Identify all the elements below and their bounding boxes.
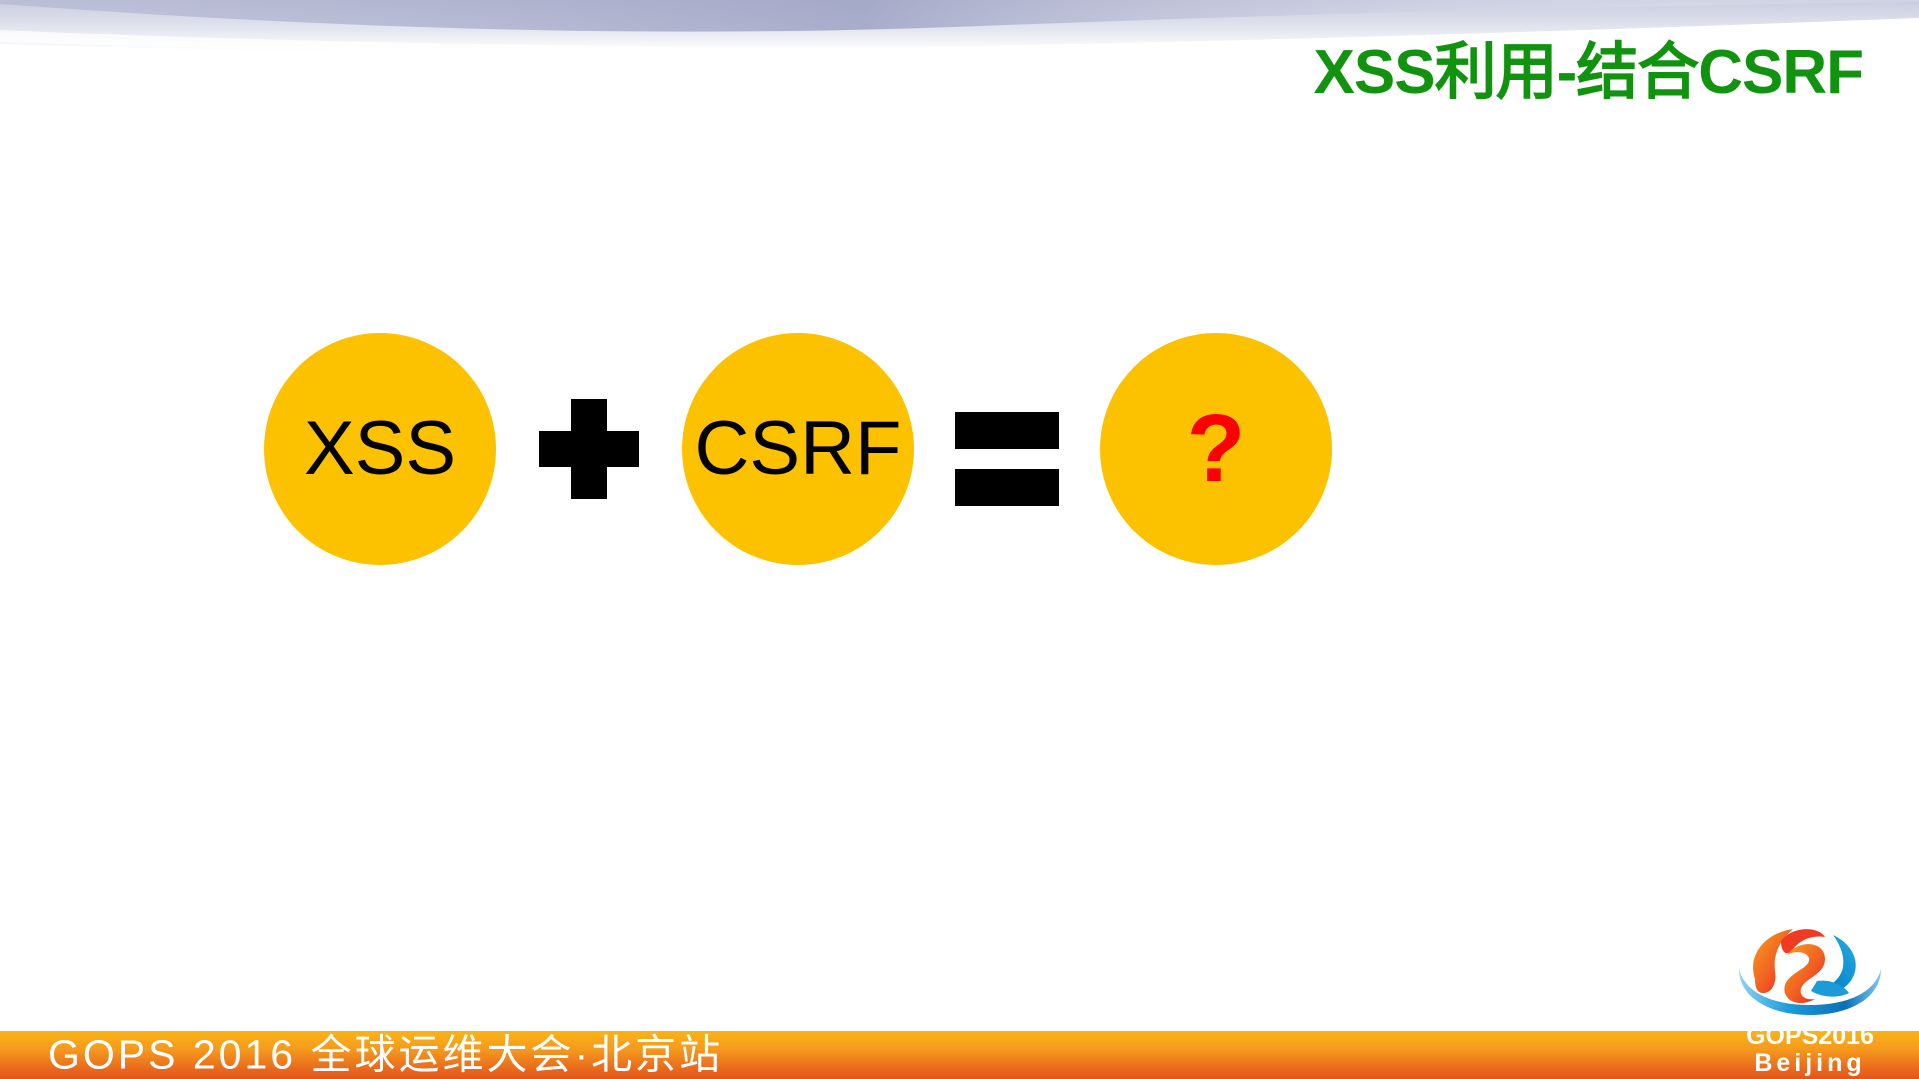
equals-icon [914, 333, 1100, 565]
bubble-result: ? [1100, 333, 1332, 565]
footer-banner-text: GOPS 2016 全球运维大会·北京站 [48, 1035, 723, 1076]
footer-banner: GOPS 2016 全球运维大会·北京站 [0, 1031, 1919, 1079]
gops-logo-line2: Beijing [1717, 1050, 1903, 1077]
page-title: XSS利用-结合CSRF [1314, 42, 1863, 104]
bubble-xss: XSS [264, 333, 496, 565]
plus-icon [496, 333, 682, 565]
gops-logo-line1: GOPS2016 [1717, 1023, 1903, 1050]
equals-icon-bottom-bar [955, 469, 1059, 506]
bubble-xss-label: XSS [304, 411, 456, 487]
bubble-csrf-label: CSRF [695, 411, 902, 487]
gops-beijing-logo: GOPS2016 Beijing [1717, 919, 1903, 1079]
gops-swirl-icon [1725, 919, 1895, 1023]
bubble-result-label: ? [1187, 401, 1246, 497]
gops-logo-text: GOPS2016 Beijing [1717, 1023, 1903, 1077]
bubble-csrf: CSRF [682, 333, 914, 565]
equals-icon-top-bar [955, 412, 1059, 449]
equation-diagram: XSS CSRF ? [264, 333, 1504, 565]
plus-icon-vertical-bar [571, 399, 607, 499]
gops-swirl-icon-svg [1725, 919, 1895, 1023]
